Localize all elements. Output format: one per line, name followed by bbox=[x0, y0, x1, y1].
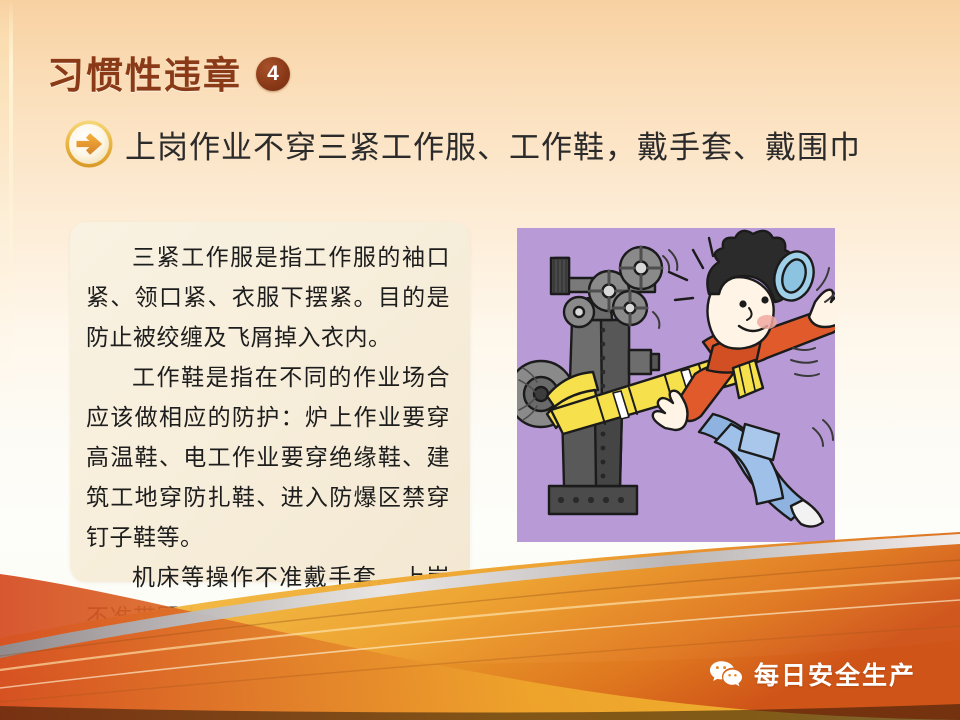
wechat-icon bbox=[709, 660, 743, 688]
section-number-badge: 4 bbox=[256, 57, 290, 91]
page-title: 习惯性违章 bbox=[47, 45, 242, 99]
body-paragraph-2: 工作鞋是指在不同的作业场合应该做相应的防护：炉上作业要穿高温鞋、电工作业要穿绝缘… bbox=[86, 358, 450, 558]
subtitle-row: 上岗作业不穿三紧工作服、工作鞋，戴手套、戴围巾 bbox=[64, 119, 861, 169]
body-paragraph-1: 三紧工作服是指工作服的袖口紧、领口紧、衣服下摆紧。目的是防止被绞缠及飞屑掉入衣内… bbox=[86, 238, 450, 358]
page-title-row: 习惯性违章 4 bbox=[47, 45, 290, 99]
slide-canvas: 习惯性违章 4 bbox=[0, 0, 960, 720]
body-text-card: 三紧工作服是指工作服的袖口紧、领口紧、衣服下摆紧。目的是防止被绞缠及飞屑掉入衣内… bbox=[70, 222, 470, 582]
subtitle-text: 上岗作业不穿三紧工作服、工作鞋，戴手套、戴围巾 bbox=[125, 122, 861, 167]
left-edge-accent-line bbox=[9, 0, 13, 330]
brand-watermark: 每日安全生产 bbox=[709, 656, 916, 692]
brand-name: 每日安全生产 bbox=[754, 656, 916, 692]
safety-illustration bbox=[517, 228, 835, 542]
arrow-right-circle-icon bbox=[64, 119, 114, 169]
